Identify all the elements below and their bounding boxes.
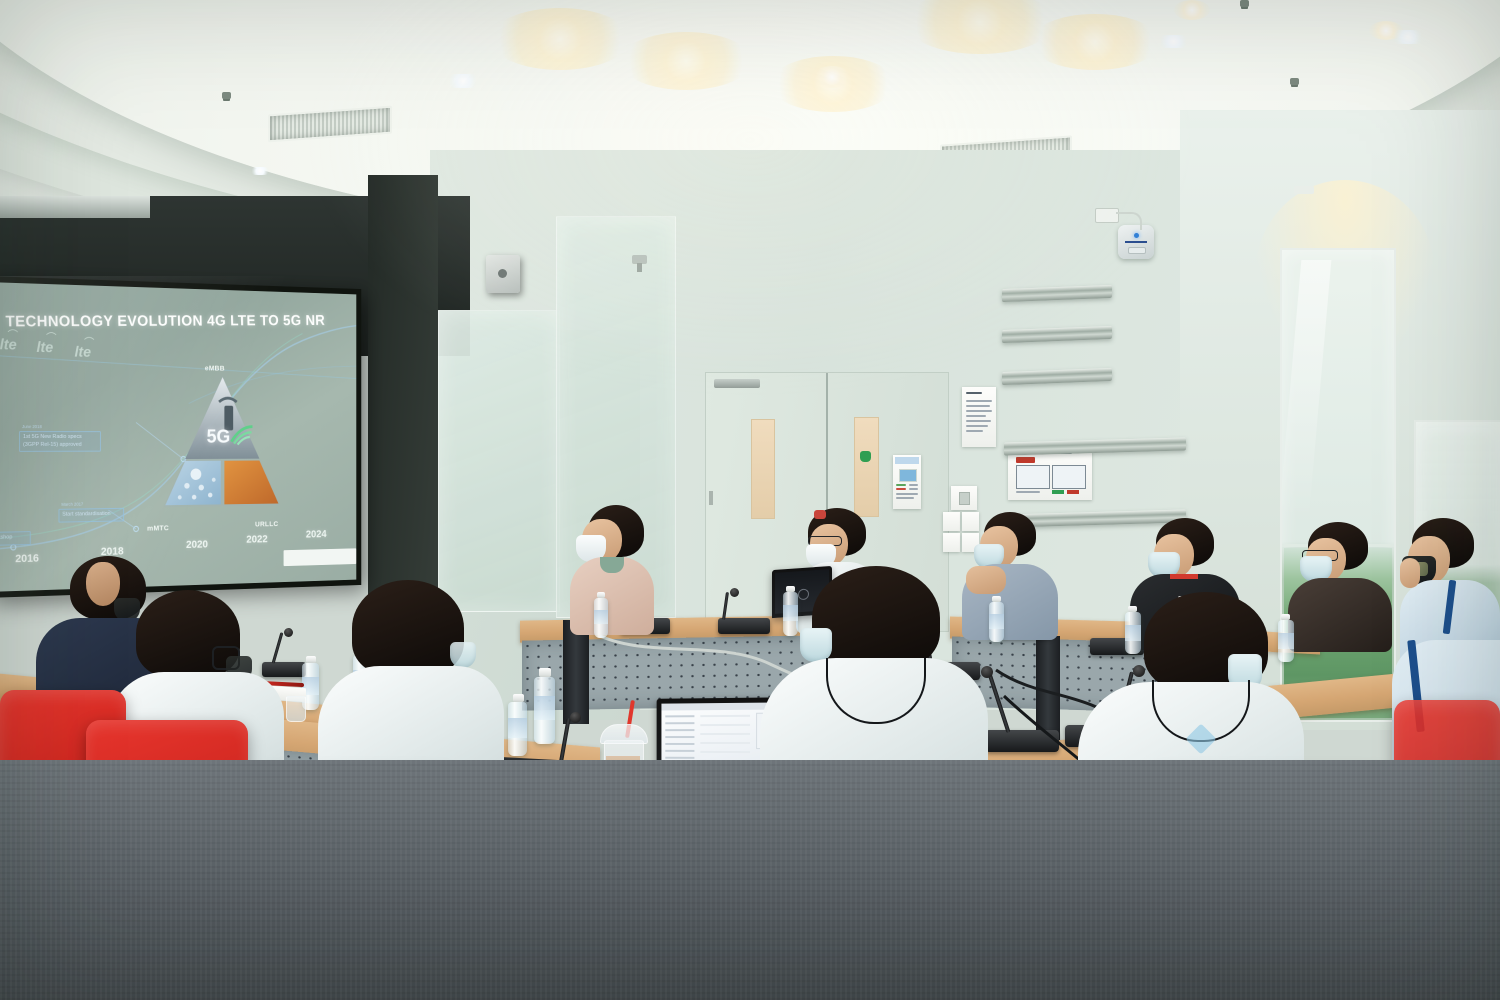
notice-line	[966, 415, 986, 417]
ceiling-square-light	[252, 167, 268, 175]
usecase-label-urllc: URLLC	[255, 519, 278, 528]
wall-label-sheet	[943, 512, 960, 531]
poster-line	[896, 493, 918, 495]
conference-room-photo: TECHNOLOGY EVOLUTION 4G LTE TO 5G NR ⌒ l…	[0, 0, 1500, 1000]
wall-speaker	[486, 255, 520, 293]
plan-legend-red	[1067, 490, 1079, 494]
ceiling-sprinkler	[222, 92, 231, 99]
notice-line	[966, 410, 992, 412]
notice-line	[966, 400, 992, 402]
wall-notice-text	[962, 387, 996, 447]
notice-line	[966, 420, 991, 422]
person-head-of-table	[560, 505, 660, 640]
water-bottle	[508, 694, 527, 756]
ceiling-downlight	[490, 8, 630, 70]
door-closer	[714, 379, 760, 388]
callout-5g-workshop: 5G workshop	[0, 531, 31, 546]
evacuation-floor-plan	[1008, 448, 1092, 500]
projection-screen: TECHNOLOGY EVOLUTION 4G LTE TO 5G NR ⌒ l…	[0, 276, 361, 598]
bottle-label	[508, 718, 527, 738]
polo-collar-stripe	[1170, 574, 1198, 579]
dark-bulkhead-column	[368, 175, 438, 605]
mic-head	[570, 712, 581, 723]
collar	[600, 557, 624, 573]
wall-spotlight-fixture	[1294, 186, 1314, 194]
timeline-year: 2024	[306, 529, 327, 541]
callout-date: June 2018	[22, 424, 42, 429]
plan-map-right	[1052, 465, 1086, 489]
bottle-cap	[306, 656, 316, 663]
wifi-access-point-icon	[1118, 225, 1154, 259]
ceiling-square-light	[1161, 35, 1186, 48]
plan-map-left	[1016, 465, 1050, 489]
ceiling-sprinkler	[1240, 0, 1249, 7]
poster-image	[899, 469, 917, 482]
ceiling-downlight	[1030, 14, 1160, 70]
projection-screen-surface: TECHNOLOGY EVOLUTION 4G LTE TO 5G NR ⌒ l…	[0, 282, 356, 592]
timeline-year: 2020	[186, 539, 208, 551]
usecase-label-embb: eMBB	[205, 364, 225, 373]
notice-title	[966, 392, 982, 394]
ap-cable	[1116, 212, 1142, 230]
hair-clip	[814, 510, 826, 519]
face-mask	[450, 642, 476, 668]
glass-partition-left	[438, 310, 560, 612]
bottle-cap	[539, 668, 551, 677]
ap-led	[1134, 233, 1139, 238]
poster-line	[909, 484, 918, 486]
mic-head	[730, 588, 739, 597]
usecase-label-mmtc: mMTC	[147, 523, 169, 532]
plan-legend-green	[1052, 490, 1064, 494]
carpet-floor	[0, 760, 1500, 1000]
glass-tumbler	[286, 696, 306, 722]
use-case-pyramid: 5G	[154, 372, 288, 513]
plan-alert-box	[1016, 457, 1035, 463]
callout-date: March 2017	[61, 502, 83, 507]
water-bottle	[534, 668, 555, 744]
door-hinge	[709, 491, 713, 505]
pyramid-5g-label: 5G	[207, 427, 231, 449]
bottle-label	[534, 696, 555, 720]
cctv-mount	[637, 263, 642, 272]
carpet-texture	[0, 760, 1500, 1000]
hair	[812, 566, 940, 670]
ap-brand-line	[1125, 241, 1147, 243]
bottle-label	[594, 610, 608, 624]
notice-line	[966, 425, 988, 427]
hair	[352, 580, 464, 676]
window-reflection	[1279, 260, 1332, 520]
water-bottle	[594, 592, 608, 638]
door-window-right	[854, 417, 879, 517]
ceiling-sprinkler	[1290, 78, 1299, 85]
ceiling-square-light	[1395, 30, 1421, 44]
slide-logo-bar	[284, 548, 357, 566]
notice-line	[966, 430, 983, 432]
ceiling-downlight	[812, 66, 852, 88]
poster-line	[909, 488, 918, 490]
ceiling-downlight	[620, 32, 752, 90]
bottle-label	[989, 614, 1004, 629]
plan-footer	[1016, 491, 1040, 493]
callout-start-standardisation: Start standardisation	[58, 508, 124, 522]
switch-rocker[interactable]	[959, 492, 970, 505]
wall-switch-panel[interactable]	[951, 486, 977, 510]
cctv-camera	[632, 255, 647, 264]
wall-label-sheet	[943, 533, 960, 552]
timeline-year: 2022	[246, 534, 267, 546]
dark-bulkhead-strip	[0, 196, 150, 218]
door-window-left	[751, 419, 775, 519]
face-mask	[800, 628, 832, 662]
notice-line	[966, 405, 990, 407]
callout-5g-nr-specs: 1st 5G New Radio specs (3GPP Rel-15) app…	[19, 431, 101, 452]
ceiling-square-light	[450, 74, 476, 88]
hand-to-face	[1400, 558, 1420, 588]
5g-wifi-arc-icon	[230, 423, 256, 446]
bottle-cap	[513, 694, 524, 702]
water-bottle	[989, 596, 1004, 642]
ceiling-downlight	[1174, 0, 1210, 20]
speaker-cone	[498, 269, 507, 278]
ap-slot	[1128, 247, 1146, 254]
door-green-sticker	[860, 451, 871, 462]
